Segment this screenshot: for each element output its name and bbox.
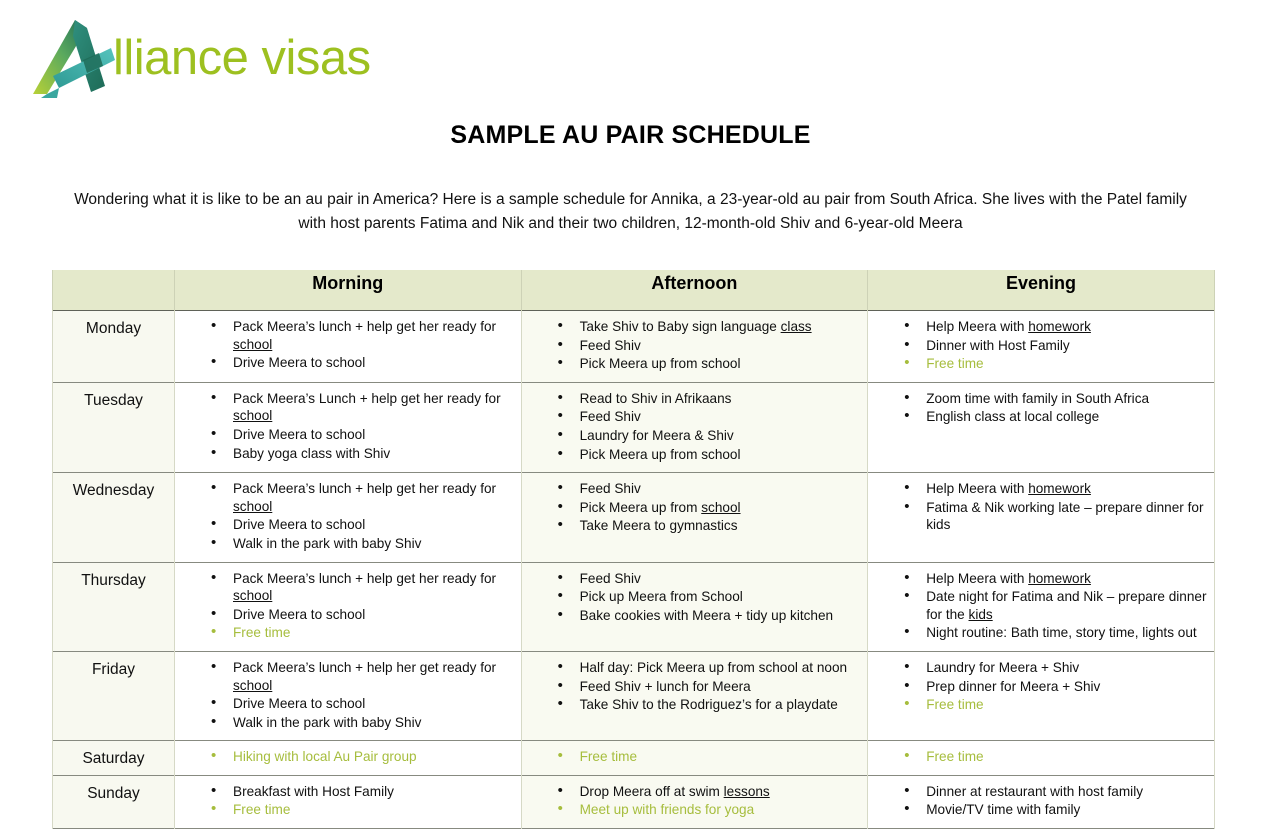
schedule-cell-afternoon: Drop Meera off at swim lessonsMeet up wi… [521, 775, 868, 828]
linked-term[interactable]: school [233, 408, 272, 423]
activity-text: Take Meera to gymnastics [580, 518, 738, 533]
activity-item: Help Meera with homework [904, 318, 1208, 336]
activity-text: Free time [926, 356, 983, 371]
activity-item: Bake cookies with Meera + tidy up kitche… [558, 607, 862, 625]
table-row: SaturdayHiking with local Au Pair groupF… [53, 741, 1215, 776]
activity-list: Read to Shiv in AfrikaansFeed ShivLaundr… [522, 383, 868, 472]
activity-text: Feed Shiv [580, 481, 641, 496]
activity-text: Pick Meera up from school [580, 447, 741, 462]
activity-list: Help Meera with homeworkDate night for F… [868, 563, 1214, 651]
activity-item: Drive Meera to school [211, 426, 515, 444]
activity-item: Pick Meera up from school [558, 446, 862, 464]
linked-term[interactable]: school [233, 337, 272, 352]
activity-item: Take Shiv to the Rodriguez’s for a playd… [558, 696, 862, 714]
activity-item: Drive Meera to school [211, 516, 515, 534]
activity-text: Fatima & Nik working late – prepare dinn… [926, 500, 1203, 533]
document-page: lliance visas SAMPLE AU PAIR SCHEDULE Wo… [0, 0, 1261, 749]
activity-item: Meet up with friends for yoga [558, 801, 862, 819]
activity-text: Half day: Pick Meera up from school at n… [580, 660, 847, 675]
activity-text: Dinner at restaurant with host family [926, 784, 1143, 799]
activity-text: Free time [926, 749, 983, 764]
column-header-evening: Evening [868, 270, 1215, 311]
schedule-cell-morning: Breakfast with Host FamilyFree time [175, 775, 522, 828]
activity-list: Zoom time with family in South AfricaEng… [868, 383, 1214, 435]
activity-list: Pack Meera’s lunch + help get her ready … [175, 311, 521, 381]
activity-list: Take Shiv to Baby sign language classFee… [522, 311, 868, 382]
activity-item: Pick Meera up from school [558, 355, 862, 373]
brand-logo[interactable]: lliance visas [27, 14, 371, 102]
schedule-cell-afternoon: Free time [521, 741, 868, 776]
activity-item: Free time [904, 355, 1208, 373]
activity-text: Pick Meera up from [580, 500, 702, 515]
linked-term[interactable]: school [233, 499, 272, 514]
activity-list: Help Meera with homeworkDinner with Host… [868, 311, 1214, 382]
activity-list: Hiking with local Au Pair group [175, 741, 521, 775]
schedule-cell-evening: Laundry for Meera + ShivPrep dinner for … [868, 651, 1215, 740]
activity-list: Drop Meera off at swim lessonsMeet up wi… [522, 776, 868, 828]
table-body: MondayPack Meera’s lunch + help get her … [53, 311, 1215, 829]
activity-item: Drive Meera to school [211, 354, 515, 372]
schedule-cell-evening: Help Meera with homeworkFatima & Nik wor… [868, 473, 1215, 562]
activity-item: Movie/TV time with family [904, 801, 1208, 819]
linked-term[interactable]: homework [1028, 571, 1091, 586]
activity-item: Free time [211, 801, 515, 819]
activity-item: Walk in the park with baby Shiv [211, 714, 515, 732]
schedule-cell-morning: Pack Meera’s lunch + help get her ready … [175, 473, 522, 562]
activity-item: Dinner at restaurant with host family [904, 783, 1208, 801]
activity-item: Pack Meera’s lunch + help get her ready … [211, 480, 515, 515]
linked-term[interactable]: school [701, 500, 740, 515]
schedule-cell-evening: Help Meera with homeworkDinner with Host… [868, 311, 1215, 383]
activity-item: Pack Meera’s Lunch + help get her ready … [211, 390, 515, 425]
schedule-cell-morning: Pack Meera’s lunch + help her get ready … [175, 651, 522, 740]
schedule-cell-morning: Hiking with local Au Pair group [175, 741, 522, 776]
activity-item: Pack Meera’s lunch + help get her ready … [211, 318, 515, 353]
activity-text: Take Shiv to the Rodriguez’s for a playd… [580, 697, 838, 712]
linked-term[interactable]: homework [1028, 319, 1091, 334]
activity-text: Pick Meera up from school [580, 356, 741, 371]
activity-text: Drive Meera to school [233, 696, 365, 711]
activity-list: Breakfast with Host FamilyFree time [175, 776, 521, 828]
table-row: ThursdayPack Meera’s lunch + help get he… [53, 562, 1215, 651]
intro-paragraph: Wondering what it is like to be an au pa… [62, 188, 1199, 236]
activity-text: Free time [233, 625, 290, 640]
activity-item: Pick up Meera from School [558, 588, 862, 606]
activity-list: Help Meera with homeworkFatima & Nik wor… [868, 473, 1214, 543]
activity-item: Help Meera with homework [904, 480, 1208, 498]
activity-text: Pack Meera’s lunch + help get her ready … [233, 571, 496, 586]
activity-text: Laundry for Meera + Shiv [926, 660, 1079, 675]
schedule-cell-evening: Zoom time with family in South AfricaEng… [868, 382, 1215, 472]
activity-text: Movie/TV time with family [926, 802, 1080, 817]
activity-text: Night routine: Bath time, story time, li… [926, 625, 1196, 640]
schedule-cell-afternoon: Half day: Pick Meera up from school at n… [521, 651, 868, 740]
linked-term[interactable]: class [781, 319, 812, 334]
table-row: MondayPack Meera’s lunch + help get her … [53, 311, 1215, 383]
activity-item: Breakfast with Host Family [211, 783, 515, 801]
activity-item: Drop Meera off at swim lessons [558, 783, 862, 801]
activity-item: Drive Meera to school [211, 695, 515, 713]
activity-list: Laundry for Meera + ShivPrep dinner for … [868, 652, 1214, 723]
day-label-cell: Saturday [53, 741, 175, 776]
linked-term[interactable]: school [233, 588, 272, 603]
activity-text: Feed Shiv [580, 571, 641, 586]
activity-text: Dinner with Host Family [926, 338, 1070, 353]
column-header-day [53, 270, 175, 311]
schedule-table: Morning Afternoon Evening MondayPack Mee… [52, 270, 1215, 829]
activity-item: Read to Shiv in Afrikaans [558, 390, 862, 408]
activity-list: Feed ShivPick Meera up from schoolTake M… [522, 473, 868, 544]
table-row: FridayPack Meera’s lunch + help her get … [53, 651, 1215, 740]
activity-text: English class at local college [926, 409, 1099, 424]
alliance-visas-logo-icon [27, 14, 119, 102]
table-row: WednesdayPack Meera’s lunch + help get h… [53, 473, 1215, 562]
activity-text: Drive Meera to school [233, 355, 365, 370]
activity-list: Pack Meera’s lunch + help get her ready … [175, 563, 521, 651]
activity-text: Free time [580, 749, 637, 764]
activity-text: Bake cookies with Meera + tidy up kitche… [580, 608, 834, 623]
schedule-cell-afternoon: Feed ShivPick Meera up from schoolTake M… [521, 473, 868, 562]
linked-term[interactable]: homework [1028, 481, 1091, 496]
schedule-cell-evening: Dinner at restaurant with host familyMov… [868, 775, 1215, 828]
day-label-cell: Friday [53, 651, 175, 740]
activity-item: Take Shiv to Baby sign language class [558, 318, 862, 336]
activity-item: English class at local college [904, 408, 1208, 426]
activity-text: Baby yoga class with Shiv [233, 446, 390, 461]
activity-item: Pick Meera up from school [558, 499, 862, 517]
activity-list: Pack Meera’s lunch + help her get ready … [175, 652, 521, 740]
activity-item: Take Meera to gymnastics [558, 517, 862, 535]
activity-text: Feed Shiv [580, 338, 641, 353]
activity-text: Pack Meera’s lunch + help get her ready … [233, 481, 496, 496]
schedule-cell-evening: Free time [868, 741, 1215, 776]
activity-list: Free time [522, 741, 868, 775]
day-label-cell: Tuesday [53, 382, 175, 472]
day-label-cell: Wednesday [53, 473, 175, 562]
activity-text: Read to Shiv in Afrikaans [580, 391, 732, 406]
day-label-cell: Monday [53, 311, 175, 383]
activity-text: Drive Meera to school [233, 427, 365, 442]
activity-item: Prep dinner for Meera + Shiv [904, 678, 1208, 696]
activity-item: Feed Shiv + lunch for Meera [558, 678, 862, 696]
activity-list: Pack Meera’s Lunch + help get her ready … [175, 383, 521, 471]
activity-text: Zoom time with family in South Africa [926, 391, 1149, 406]
activity-item: Help Meera with homework [904, 570, 1208, 588]
table-header: Morning Afternoon Evening [53, 270, 1215, 311]
activity-item: Dinner with Host Family [904, 337, 1208, 355]
activity-text: Laundry for Meera & Shiv [580, 428, 734, 443]
activity-text: Help Meera with [926, 481, 1028, 496]
activity-item: Pack Meera’s lunch + help her get ready … [211, 659, 515, 694]
activity-text: Help Meera with [926, 319, 1028, 334]
activity-text: Walk in the park with baby Shiv [233, 536, 421, 551]
column-header-afternoon: Afternoon [521, 270, 868, 311]
activity-text: Take Shiv to Baby sign language [580, 319, 781, 334]
activity-item: Laundry for Meera + Shiv [904, 659, 1208, 677]
activity-text: Drive Meera to school [233, 607, 365, 622]
brand-wordmark: lliance visas [113, 34, 371, 83]
activity-text: Free time [926, 697, 983, 712]
activity-item: Pack Meera’s lunch + help get her ready … [211, 570, 515, 605]
schedule-cell-morning: Pack Meera’s lunch + help get her ready … [175, 311, 522, 383]
column-header-morning: Morning [175, 270, 522, 311]
linked-term[interactable]: school [233, 678, 272, 693]
activity-item: Laundry for Meera & Shiv [558, 427, 862, 445]
activity-list: Free time [868, 741, 1214, 775]
schedule-cell-morning: Pack Meera’s lunch + help get her ready … [175, 562, 522, 651]
schedule-cell-morning: Pack Meera’s Lunch + help get her ready … [175, 382, 522, 472]
activity-text: Pack Meera’s Lunch + help get her ready … [233, 391, 501, 406]
activity-text: Prep dinner for Meera + Shiv [926, 679, 1100, 694]
activity-text: Meet up with friends for yoga [580, 802, 755, 817]
activity-text: Breakfast with Host Family [233, 784, 394, 799]
linked-term[interactable]: kids [969, 607, 993, 622]
schedule-cell-evening: Help Meera with homeworkDate night for F… [868, 562, 1215, 651]
activity-item: Feed Shiv [558, 337, 862, 355]
activity-text: Hiking with local Au Pair group [233, 749, 417, 764]
activity-item: Drive Meera to school [211, 606, 515, 624]
activity-item: Feed Shiv [558, 570, 862, 588]
schedule-cell-afternoon: Feed ShivPick up Meera from SchoolBake c… [521, 562, 868, 651]
table-row: SundayBreakfast with Host FamilyFree tim… [53, 775, 1215, 828]
activity-item: Free time [211, 624, 515, 642]
activity-text: Walk in the park with baby Shiv [233, 715, 421, 730]
activity-list: Dinner at restaurant with host familyMov… [868, 776, 1214, 828]
activity-item: Walk in the park with baby Shiv [211, 535, 515, 553]
activity-text: Feed Shiv [580, 409, 641, 424]
activity-text: Feed Shiv + lunch for Meera [580, 679, 751, 694]
schedule-cell-afternoon: Read to Shiv in AfrikaansFeed ShivLaundr… [521, 382, 868, 472]
day-label-cell: Thursday [53, 562, 175, 651]
page-title: SAMPLE AU PAIR SCHEDULE [0, 121, 1261, 150]
activity-item: Half day: Pick Meera up from school at n… [558, 659, 862, 677]
activity-text: Pack Meera’s lunch + help her get ready … [233, 660, 496, 675]
activity-item: Date night for Fatima and Nik – prepare … [904, 588, 1208, 623]
activity-item: Zoom time with family in South Africa [904, 390, 1208, 408]
day-label-cell: Sunday [53, 775, 175, 828]
activity-text: Drive Meera to school [233, 517, 365, 532]
activity-item: Feed Shiv [558, 480, 862, 498]
activity-list: Feed ShivPick up Meera from SchoolBake c… [522, 563, 868, 634]
activity-list: Half day: Pick Meera up from school at n… [522, 652, 868, 723]
activity-item: Baby yoga class with Shiv [211, 445, 515, 463]
activity-list: Pack Meera’s lunch + help get her ready … [175, 473, 521, 561]
activity-text: Drop Meera off at swim [580, 784, 724, 799]
activity-item: Fatima & Nik working late – prepare dinn… [904, 499, 1208, 534]
activity-text: Pick up Meera from School [580, 589, 743, 604]
activity-item: Night routine: Bath time, story time, li… [904, 624, 1208, 642]
activity-item: Free time [904, 748, 1208, 766]
activity-text: Help Meera with [926, 571, 1028, 586]
activity-item: Feed Shiv [558, 408, 862, 426]
table-row: TuesdayPack Meera’s Lunch + help get her… [53, 382, 1215, 472]
schedule-cell-afternoon: Take Shiv to Baby sign language classFee… [521, 311, 868, 383]
table-header-row: Morning Afternoon Evening [53, 270, 1215, 311]
activity-item: Free time [558, 748, 862, 766]
activity-text: Free time [233, 802, 290, 817]
activity-item: Hiking with local Au Pair group [211, 748, 515, 766]
activity-item: Free time [904, 696, 1208, 714]
activity-text: Pack Meera’s lunch + help get her ready … [233, 319, 496, 334]
linked-term[interactable]: lessons [724, 784, 770, 799]
